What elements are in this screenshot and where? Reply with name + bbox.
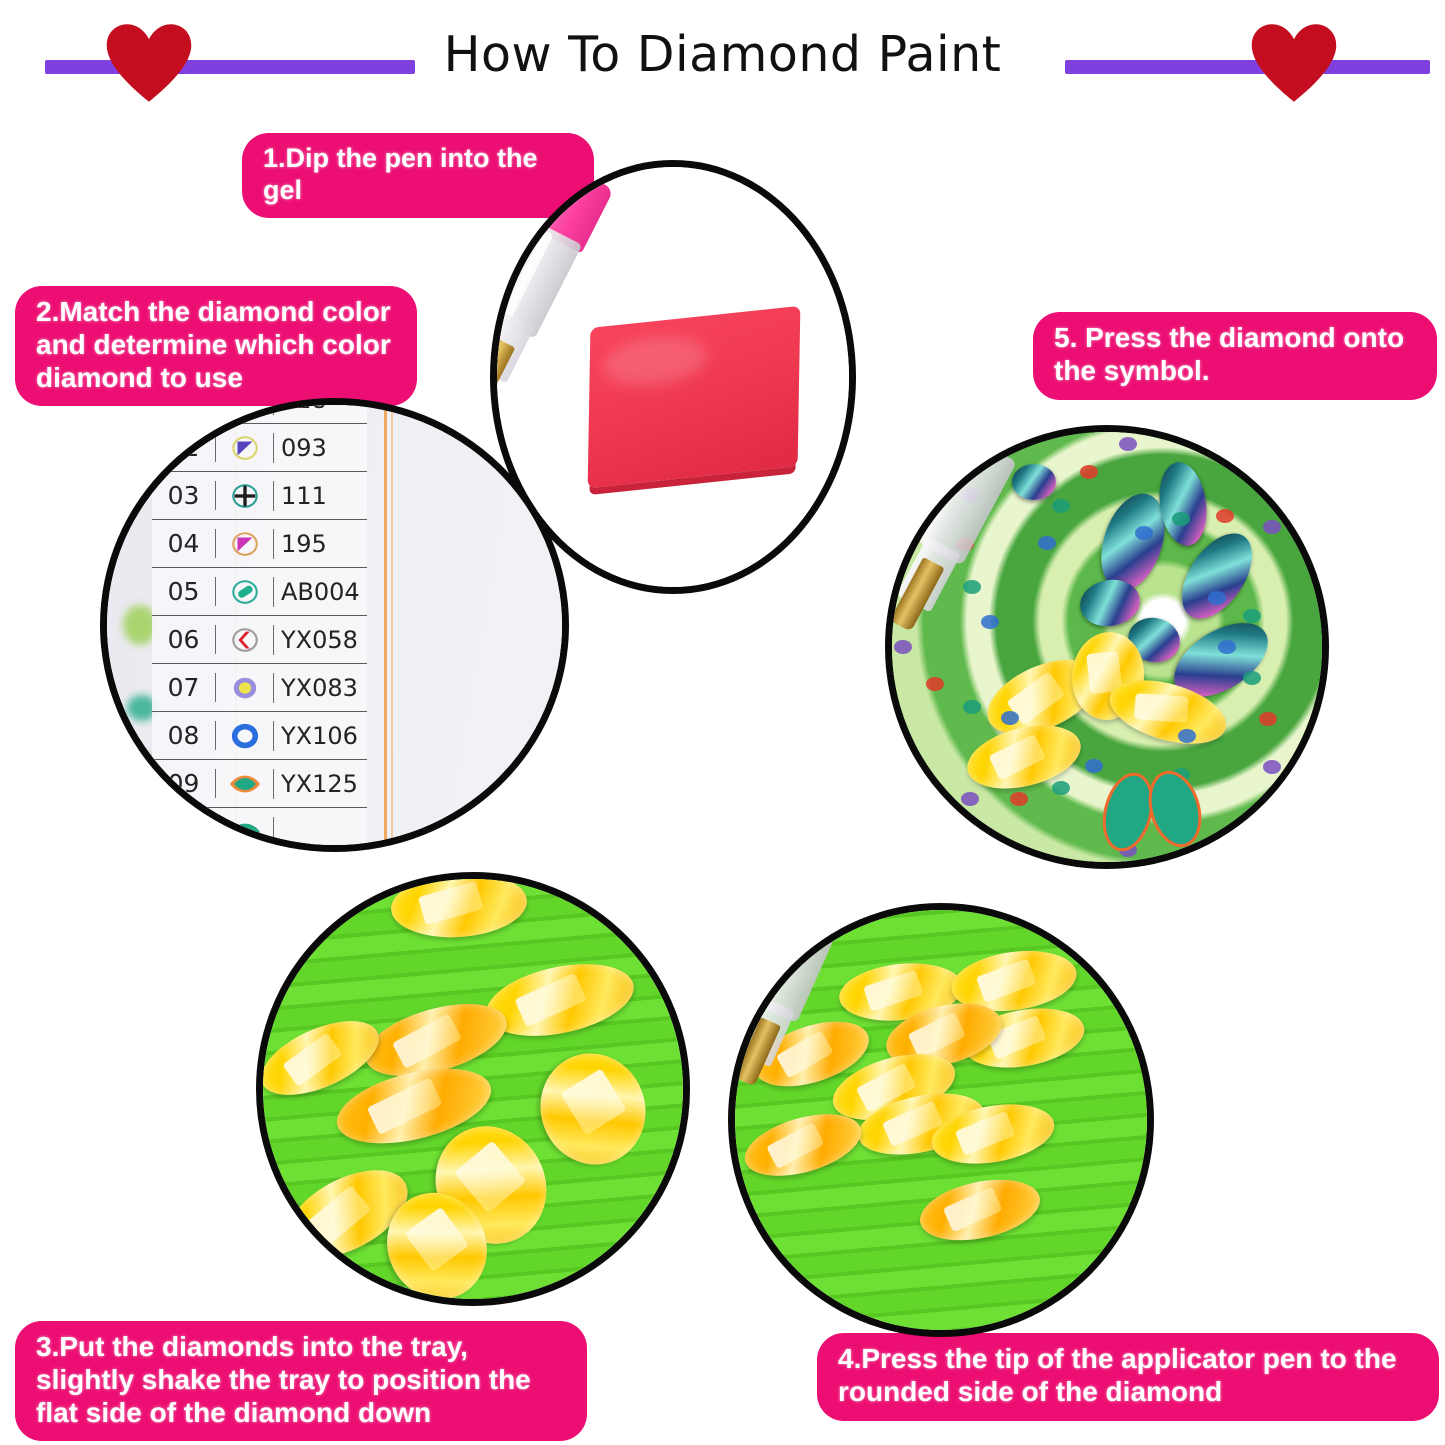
green-tray (263, 879, 683, 1299)
printed-symbol-dot (894, 640, 912, 654)
step-5-callout: 5. Press the diamond onto the symbol. (1034, 313, 1436, 399)
open-ring-icon (226, 721, 264, 751)
legend-code: 08 (152, 721, 216, 750)
triangle-wedge-icon (226, 529, 264, 559)
table-row: 04195 (152, 520, 367, 568)
legend-color-number: 111 (274, 482, 367, 510)
printed-leaf (1140, 765, 1210, 854)
printed-symbol-dot (1259, 712, 1277, 726)
legend-symbol-cell (216, 433, 274, 463)
legend-color-number: AB004 (274, 578, 367, 606)
legend-color-number: YX106 (274, 722, 367, 750)
table-row: 07YX083 (152, 664, 367, 712)
printed-symbol-dot (1218, 640, 1236, 654)
printed-symbol-dot (1080, 465, 1098, 479)
printed-symbol-dot (1208, 591, 1226, 605)
yellow-gem (389, 872, 529, 942)
printed-symbol-dot (1001, 711, 1019, 725)
legend-color-number: YX083 (274, 674, 367, 702)
printed-symbol-dot (1085, 759, 1103, 773)
printed-symbol-dot (1243, 671, 1261, 685)
triangle-wedge-icon (226, 433, 264, 463)
legend-symbol-cell (216, 673, 274, 703)
table-row: 09YX125 (152, 760, 367, 808)
printed-symbol-dot (1172, 512, 1190, 526)
printed-symbol-dot (1243, 609, 1261, 623)
color-chart-photo: 02802093031110419505AB00406YX05807YX0830… (100, 398, 569, 852)
printed-symbol-dot (1038, 536, 1056, 550)
legend-symbol-cell (216, 577, 274, 607)
table-row: 05AB004 (152, 568, 367, 616)
leaf-eye-icon (226, 769, 264, 799)
printed-symbol-dot (1010, 792, 1028, 806)
printed-symbol-dot (981, 615, 999, 629)
printed-symbol-dot (1263, 760, 1281, 774)
legend-code: 05 (152, 577, 216, 606)
printed-symbol-dot (963, 580, 981, 594)
red-gel-pad (588, 306, 801, 488)
mandala-canvas (892, 432, 1322, 862)
printed-symbol-dot (1135, 526, 1153, 540)
color-legend-table: 02802093031110419505AB00406YX05807YX0830… (152, 398, 367, 852)
printed-symbol-dot (1052, 781, 1070, 795)
step-2-callout: 2.Match the diamond color and determine … (16, 287, 416, 405)
page-title: How To Diamond Paint (0, 26, 1445, 83)
legend-symbol-cell (216, 721, 274, 751)
legend-symbol-cell (216, 625, 274, 655)
header-banner: How To Diamond Paint (0, 0, 1445, 115)
step-4-callout: 4.Press the tip of the applicator pen to… (818, 1334, 1438, 1420)
legend-code: 04 (152, 529, 216, 558)
yellow-gem (525, 1039, 661, 1180)
legend-code: 09 (152, 769, 216, 798)
table-row (152, 808, 367, 852)
printed-symbol-dot (961, 792, 979, 806)
table-row: 02093 (152, 424, 367, 472)
legend-symbol-cell (216, 481, 274, 511)
legend-symbol-cell (216, 769, 274, 799)
legend-code: 02 (152, 433, 216, 462)
filled-donut-icon (226, 673, 264, 703)
table-row: 08YX106 (152, 712, 367, 760)
table-row: 03111 (152, 472, 367, 520)
chevron-left-icon (226, 625, 264, 655)
legend-code: 06 (152, 625, 216, 654)
legend-symbol-cell (216, 817, 274, 847)
legend-symbol-cell (216, 529, 274, 559)
canvas-guide-line (384, 405, 387, 845)
capsule-bar-icon (226, 577, 264, 607)
printed-symbol-dot (926, 677, 944, 691)
printed-symbol-dot (963, 700, 981, 714)
canvas-guide-line (391, 405, 393, 845)
legend-color-number: 195 (274, 530, 367, 558)
leaf-eye-icon (226, 817, 264, 847)
pressing-diamond-on-canvas-photo (885, 425, 1329, 869)
yellow-gem (915, 1170, 1046, 1250)
printed-symbol-dot (1216, 509, 1234, 523)
table-row: 06YX058 (152, 616, 367, 664)
legend-color-number: YX058 (274, 626, 367, 654)
applicator-pen (885, 435, 1022, 641)
printed-symbol-dot (1263, 520, 1281, 534)
legend-color-number: 093 (274, 434, 367, 462)
legend-code: 03 (152, 481, 216, 510)
legend-color-number: YX125 (274, 770, 367, 798)
printed-symbol-dot (1052, 499, 1070, 513)
printed-symbol-dot (1119, 437, 1137, 451)
pen-picking-up-diamond-photo (728, 903, 1154, 1337)
step-3-callout: 3.Put the diamonds into the tray, slight… (16, 1322, 586, 1440)
printed-symbol-dot (1178, 729, 1196, 743)
green-tray (735, 910, 1147, 1330)
legend-code: 07 (152, 673, 216, 702)
diamonds-in-tray-photo (256, 872, 690, 1306)
plus-cross-icon (226, 481, 264, 511)
